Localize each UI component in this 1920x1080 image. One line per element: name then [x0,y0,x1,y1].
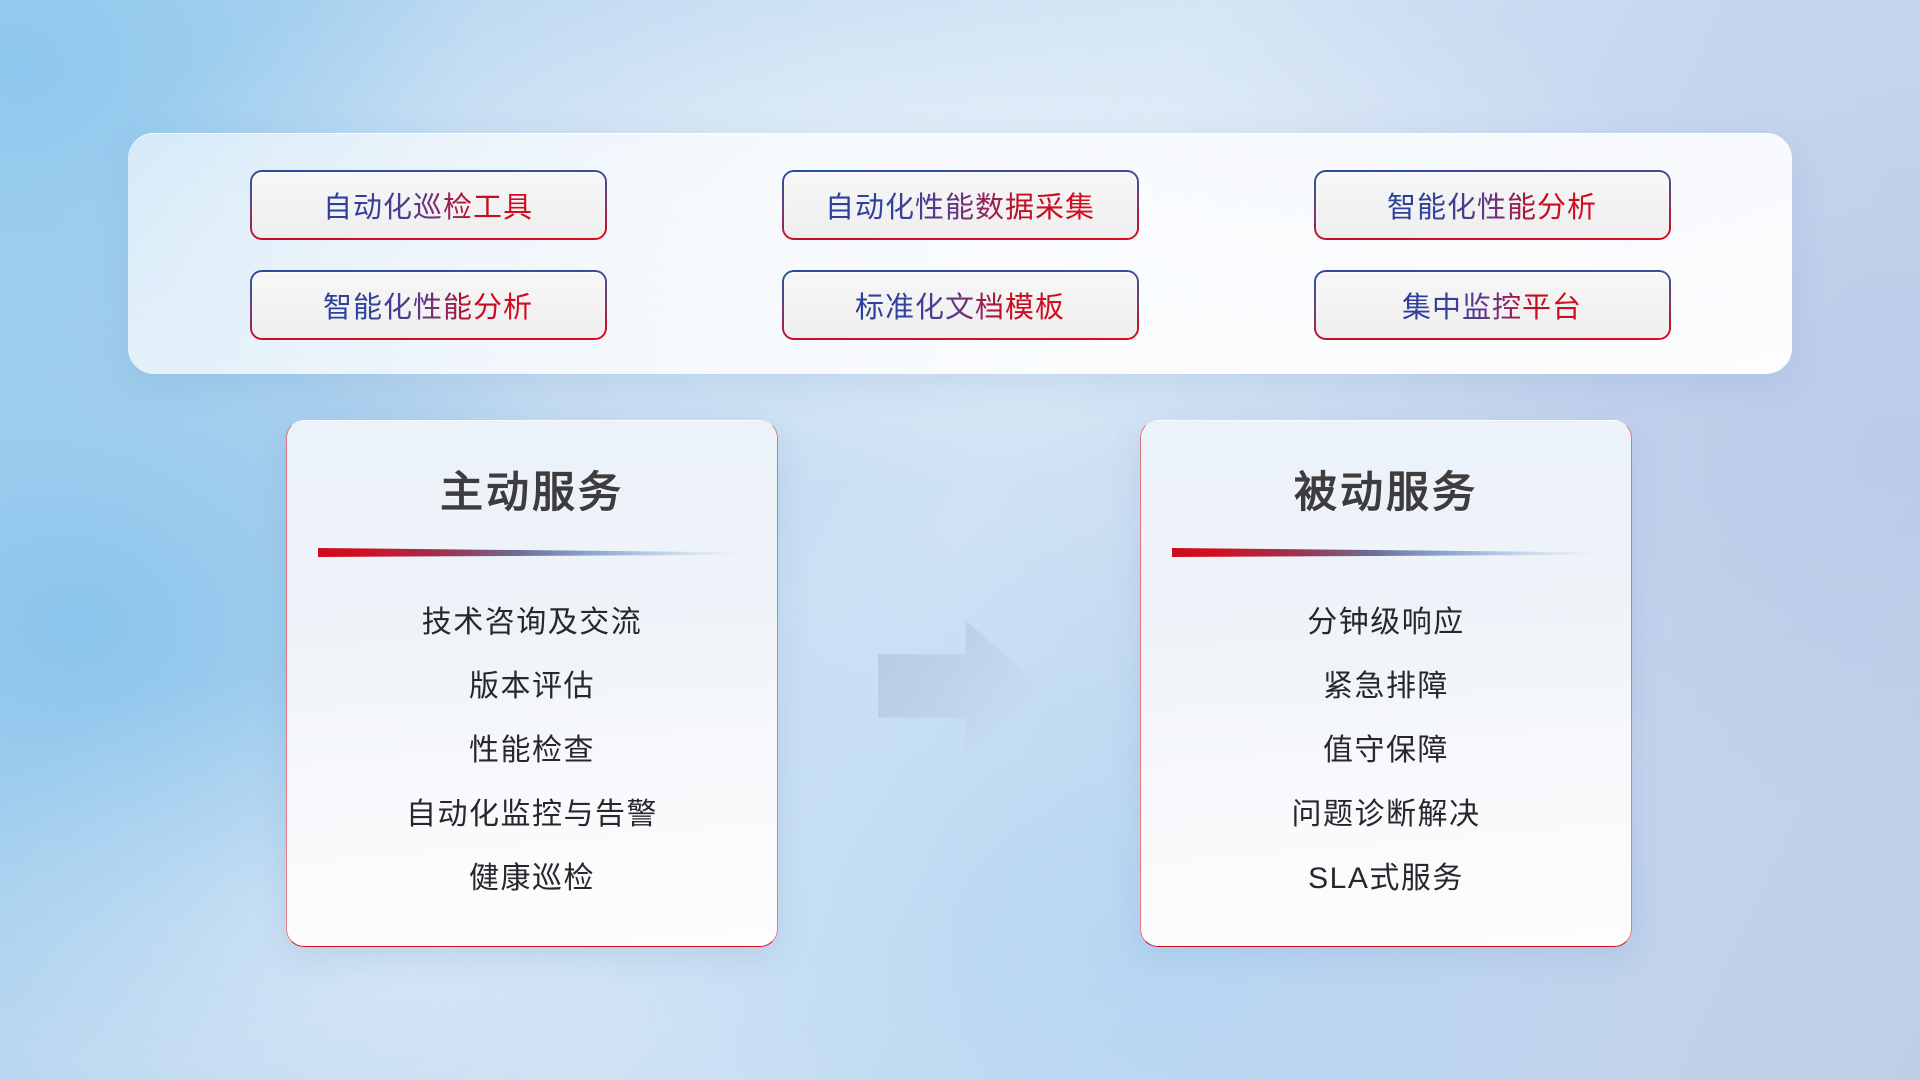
capability-pill-label: 智能化性能分析 [323,284,533,326]
list-item: 健康巡检 [287,847,777,911]
slide-canvas: 自动化巡检工具 自动化性能数据采集 智能化性能分析 智能化性能分析 标准化文档模… [0,0,1920,1080]
service-item-list: 分钟级响应 紧急排障 值守保障 问题诊断解决 SLA式服务 [1141,591,1631,911]
divider-gradient-bar [318,546,746,557]
capability-pill-label: 标准化文档模板 [855,284,1065,326]
capability-pill-2[interactable]: 自动化性能数据采集 [782,170,1139,240]
capability-pill-face: 智能化性能分析 [252,272,605,338]
capability-pill-face: 标准化文档模板 [784,272,1137,338]
list-item: 问题诊断解决 [1141,783,1631,847]
title-divider [318,546,746,557]
list-item: 自动化监控与告警 [287,783,777,847]
service-card-title: 主动服务 [287,458,777,520]
list-item: 版本评估 [287,655,777,719]
service-card-reactive[interactable]: 被动服务 分钟级响应 紧急排障 值守保障 问题诊断解决 SLA式服务 [1140,420,1632,947]
service-item-list: 技术咨询及交流 版本评估 性能检查 自动化监控与告警 健康巡检 [287,591,777,911]
list-item: 技术咨询及交流 [287,591,777,655]
divider-gradient-bar [1172,546,1600,557]
capability-pill-face: 集中监控平台 [1316,272,1669,338]
capability-panel: 自动化巡检工具 自动化性能数据采集 智能化性能分析 智能化性能分析 标准化文档模… [128,133,1792,374]
service-card-body: 主动服务 技术咨询及交流 版本评估 性能检查 自动化监控与告警 健康巡检 [287,458,777,911]
capability-pill-face: 自动化性能数据采集 [784,172,1137,238]
capability-pill-label: 集中监控平台 [1402,284,1582,326]
capability-pill-face: 智能化性能分析 [1316,172,1669,238]
title-divider [1172,546,1600,557]
service-card-title: 被动服务 [1141,458,1631,520]
capability-pill-3[interactable]: 智能化性能分析 [1314,170,1671,240]
list-item: SLA式服务 [1141,847,1631,911]
list-item: 紧急排障 [1141,655,1631,719]
capability-pill-1[interactable]: 自动化巡检工具 [250,170,607,240]
capability-pill-6[interactable]: 集中监控平台 [1314,270,1671,340]
capability-pill-label: 自动化性能数据采集 [825,184,1095,226]
list-item: 性能检查 [287,719,777,783]
capability-pill-5[interactable]: 标准化文档模板 [782,270,1139,340]
capability-pill-label: 自动化巡检工具 [323,184,533,226]
capability-pill-4[interactable]: 智能化性能分析 [250,270,607,340]
service-card-body: 被动服务 分钟级响应 紧急排障 值守保障 问题诊断解决 SLA式服务 [1141,458,1631,911]
list-item: 值守保障 [1141,719,1631,783]
service-card-proactive[interactable]: 主动服务 技术咨询及交流 版本评估 性能检查 自动化监控与告警 健康巡检 [286,420,778,947]
capability-pill-face: 自动化巡检工具 [252,172,605,238]
list-item: 分钟级响应 [1141,591,1631,655]
capability-pill-label: 智能化性能分析 [1387,184,1597,226]
